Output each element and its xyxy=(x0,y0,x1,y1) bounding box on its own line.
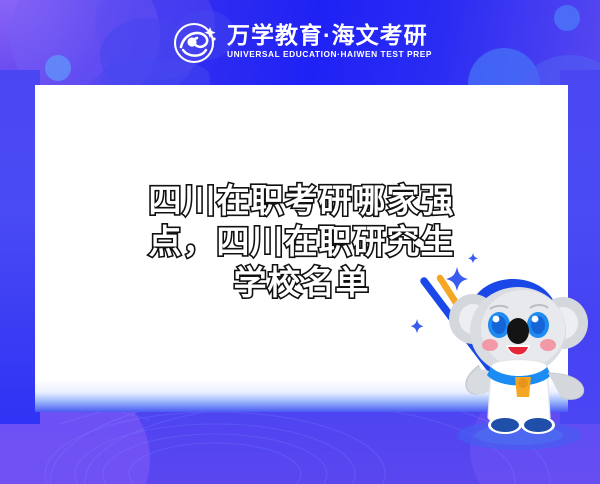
brand-header: 万学教育·海文考研 UNIVERSAL EDUCATION·HAIWEN TES… xyxy=(0,0,600,84)
poster-canvas: 万学教育·海文考研 UNIVERSAL EDUCATION·HAIWEN TES… xyxy=(0,0,600,484)
logo-name-cn: 万学教育·海文考研 xyxy=(227,23,428,48)
mascot-nose xyxy=(507,318,529,344)
logo[interactable]: 万学教育·海文考研 UNIVERSAL EDUCATION·HAIWEN TES… xyxy=(172,19,428,65)
mascot-shoe-left xyxy=(491,418,519,432)
mascot-shoe-right xyxy=(524,418,552,432)
left-side-strip xyxy=(0,70,40,424)
swirl-emblem-icon xyxy=(172,19,218,65)
title-line-1: 四川在职考研哪家强 xyxy=(35,180,568,221)
logo-name-en: UNIVERSAL EDUCATION·HAIWEN TEST PREP xyxy=(227,49,432,61)
koala-mascot xyxy=(411,245,596,460)
